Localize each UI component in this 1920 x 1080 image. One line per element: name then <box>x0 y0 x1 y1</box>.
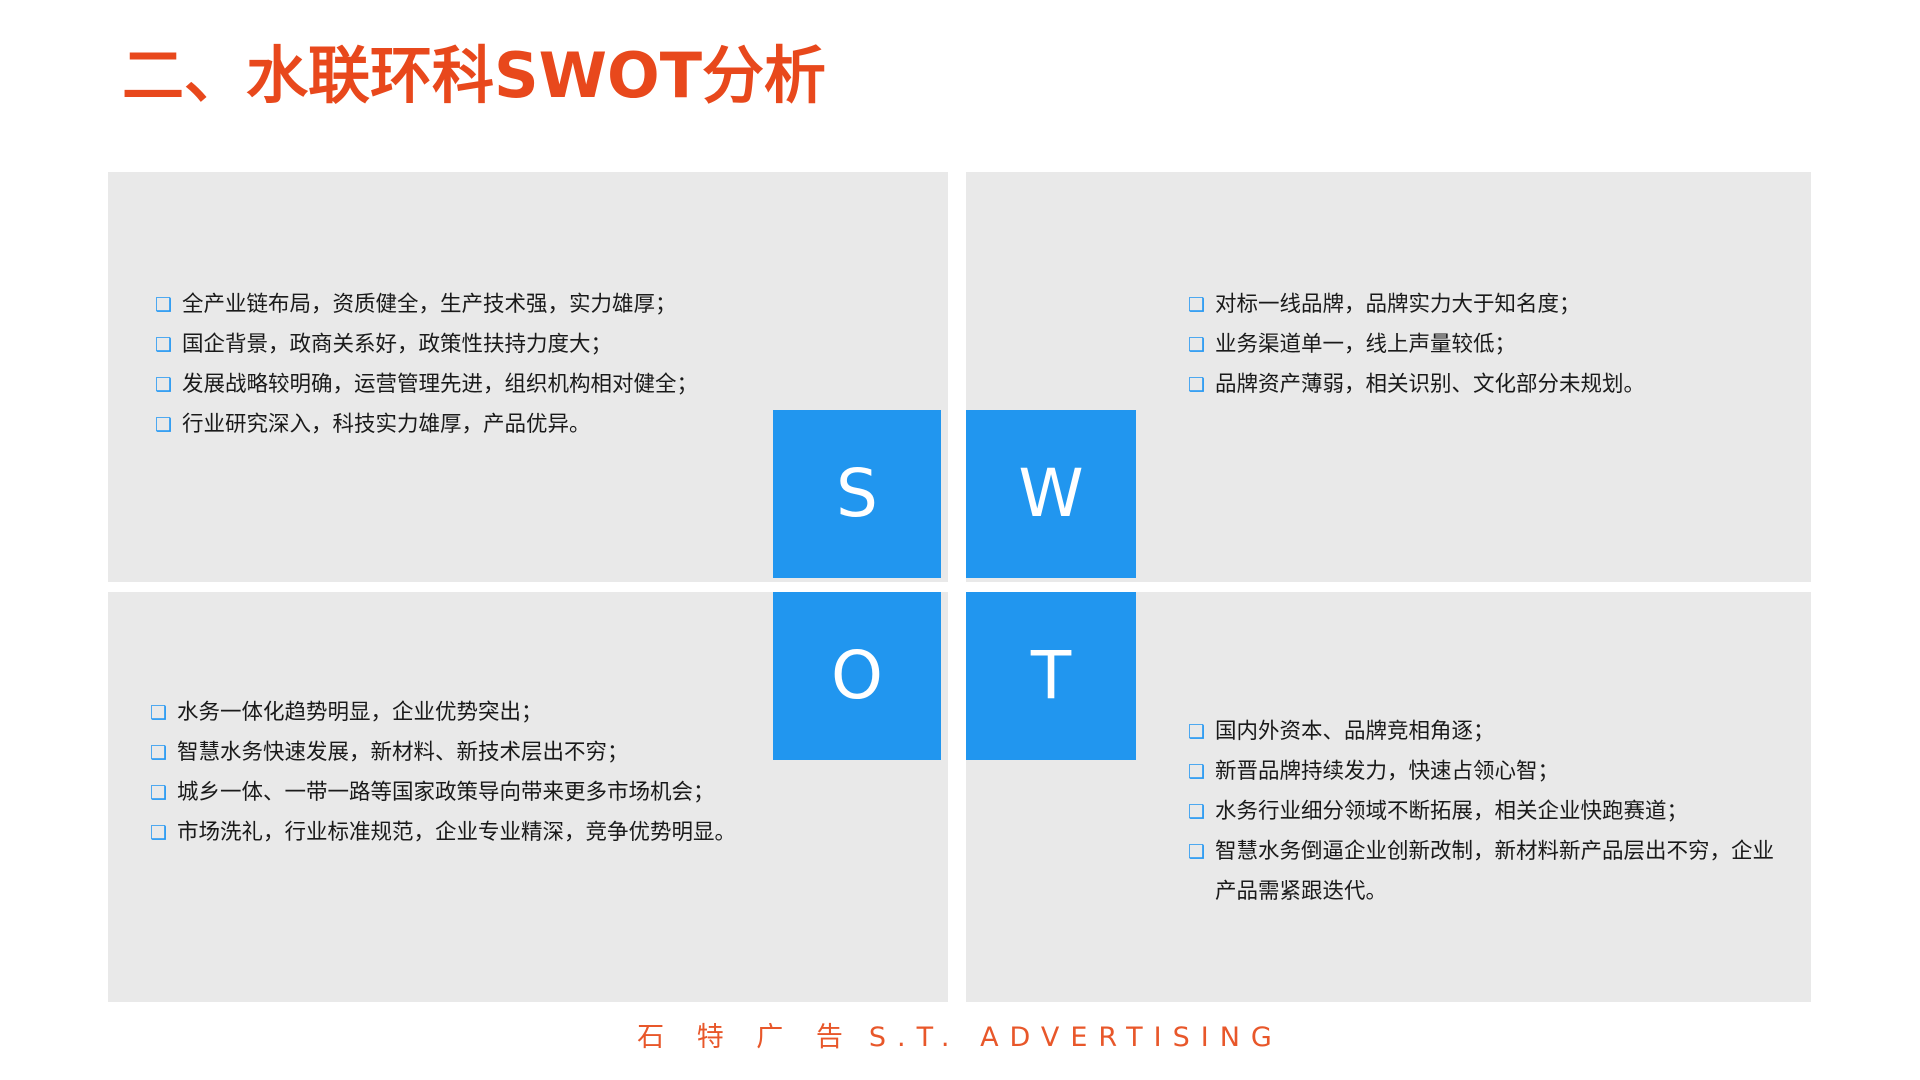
list-item: ❑ 国企背景，政商关系好，政策性扶持力度大； <box>155 325 698 365</box>
swot-letter-s: S <box>773 410 941 578</box>
bullet-square-icon: ❑ <box>1188 325 1205 365</box>
page-title: 二、水联环科SWOT分析 <box>122 40 826 112</box>
list-item-text: 城乡一体、一带一路等国家政策导向带来更多市场机会； <box>177 780 715 805</box>
list-item: ❑ 行业研究深入，科技实力雄厚，产品优异。 <box>155 405 698 445</box>
list-item-text: 发展战略较明确，运营管理先进，组织机构相对健全； <box>182 372 698 397</box>
list-item: ❑ 品牌资产薄弱，相关识别、文化部分未规划。 <box>1188 365 1645 405</box>
list-item-text: 对标一线品牌，品牌实力大于知名度； <box>1215 292 1581 317</box>
list-item: ❑ 业务渠道单一，线上声量较低； <box>1188 325 1645 365</box>
list-item-text: 市场洗礼，行业标准规范，企业专业精深，竞争优势明显。 <box>177 820 736 845</box>
bullet-square-icon: ❑ <box>150 693 167 733</box>
list-item: ❑ 对标一线品牌，品牌实力大于知名度； <box>1188 285 1645 325</box>
list-item: ❑ 智慧水务快速发展，新材料、新技术层出不穷； <box>150 733 736 773</box>
list-item-text: 行业研究深入，科技实力雄厚，产品优异。 <box>182 412 591 437</box>
bullet-square-icon: ❑ <box>155 325 172 365</box>
opportunities-bullet-list: ❑ 水务一体化趋势明显，企业优势突出； ❑ 智慧水务快速发展，新材料、新技术层出… <box>150 693 736 853</box>
footer-chinese-text: 石 特 广 告 <box>637 1022 855 1053</box>
list-item-text: 智慧水务倒逼企业创新改制，新材料新产品层出不穷，企业产品需紧跟迭代。 <box>1215 839 1774 904</box>
list-item: ❑ 水务行业细分领域不断拓展，相关企业快跑赛道； <box>1188 792 1788 832</box>
bullet-square-icon: ❑ <box>155 285 172 325</box>
threats-bullet-list: ❑ 国内外资本、品牌竞相角逐； ❑ 新晋品牌持续发力，快速占领心智； ❑ 水务行… <box>1188 712 1788 912</box>
list-item-text: 业务渠道单一，线上声量较低； <box>1215 332 1516 357</box>
bullet-square-icon: ❑ <box>150 773 167 813</box>
swot-letter-s-label: S <box>836 461 878 527</box>
list-item-text: 国内外资本、品牌竞相角逐； <box>1215 719 1495 744</box>
list-item-text: 新晋品牌持续发力，快速占领心智； <box>1215 759 1559 784</box>
footer-english-text: S.T. ADVERTISING <box>869 1022 1283 1053</box>
list-item-text: 水务行业细分领域不断拓展，相关企业快跑赛道； <box>1215 799 1688 824</box>
strengths-bullet-list: ❑ 全产业链布局，资质健全，生产技术强，实力雄厚； ❑ 国企背景，政商关系好，政… <box>155 285 698 445</box>
list-item-text: 品牌资产薄弱，相关识别、文化部分未规划。 <box>1215 372 1645 397</box>
weaknesses-bullet-list: ❑ 对标一线品牌，品牌实力大于知名度； ❑ 业务渠道单一，线上声量较低； ❑ 品… <box>1188 285 1645 405</box>
swot-letter-w: W <box>966 410 1136 578</box>
swot-letter-t-label: T <box>1031 643 1071 709</box>
list-item: ❑ 城乡一体、一带一路等国家政策导向带来更多市场机会； <box>150 773 736 813</box>
list-item-text: 国企背景，政商关系好，政策性扶持力度大； <box>182 332 612 357</box>
bullet-square-icon: ❑ <box>1188 285 1205 325</box>
list-item-text: 全产业链布局，资质健全，生产技术强，实力雄厚； <box>182 292 677 317</box>
bullet-square-icon: ❑ <box>150 733 167 773</box>
swot-letter-o: O <box>773 592 941 760</box>
list-item: ❑ 国内外资本、品牌竞相角逐； <box>1188 712 1788 752</box>
footer-branding: 石 特 广 告S.T. ADVERTISING <box>0 1015 1920 1054</box>
bullet-square-icon: ❑ <box>1188 712 1205 752</box>
bullet-square-icon: ❑ <box>1188 832 1205 872</box>
swot-letter-t: T <box>966 592 1136 760</box>
bullet-square-icon: ❑ <box>155 405 172 445</box>
bullet-square-icon: ❑ <box>1188 792 1205 832</box>
list-item: ❑ 市场洗礼，行业标准规范，企业专业精深，竞争优势明显。 <box>150 813 736 853</box>
list-item-text: 水务一体化趋势明显，企业优势突出； <box>177 700 543 725</box>
list-item: ❑ 智慧水务倒逼企业创新改制，新材料新产品层出不穷，企业产品需紧跟迭代。 <box>1188 832 1788 912</box>
bullet-square-icon: ❑ <box>1188 752 1205 792</box>
list-item: ❑ 全产业链布局，资质健全，生产技术强，实力雄厚； <box>155 285 698 325</box>
bullet-square-icon: ❑ <box>150 813 167 853</box>
list-item: ❑ 水务一体化趋势明显，企业优势突出； <box>150 693 736 733</box>
swot-letter-w-label: W <box>1018 461 1083 527</box>
list-item: ❑ 发展战略较明确，运营管理先进，组织机构相对健全； <box>155 365 698 405</box>
bullet-square-icon: ❑ <box>155 365 172 405</box>
slide-canvas: 二、水联环科SWOT分析 ❑ 全产业链布局，资质健全，生产技术强，实力雄厚； ❑… <box>0 0 1920 1080</box>
bullet-square-icon: ❑ <box>1188 365 1205 405</box>
list-item: ❑ 新晋品牌持续发力，快速占领心智； <box>1188 752 1788 792</box>
swot-letter-o-label: O <box>831 643 883 709</box>
list-item-text: 智慧水务快速发展，新材料、新技术层出不穷； <box>177 740 629 765</box>
